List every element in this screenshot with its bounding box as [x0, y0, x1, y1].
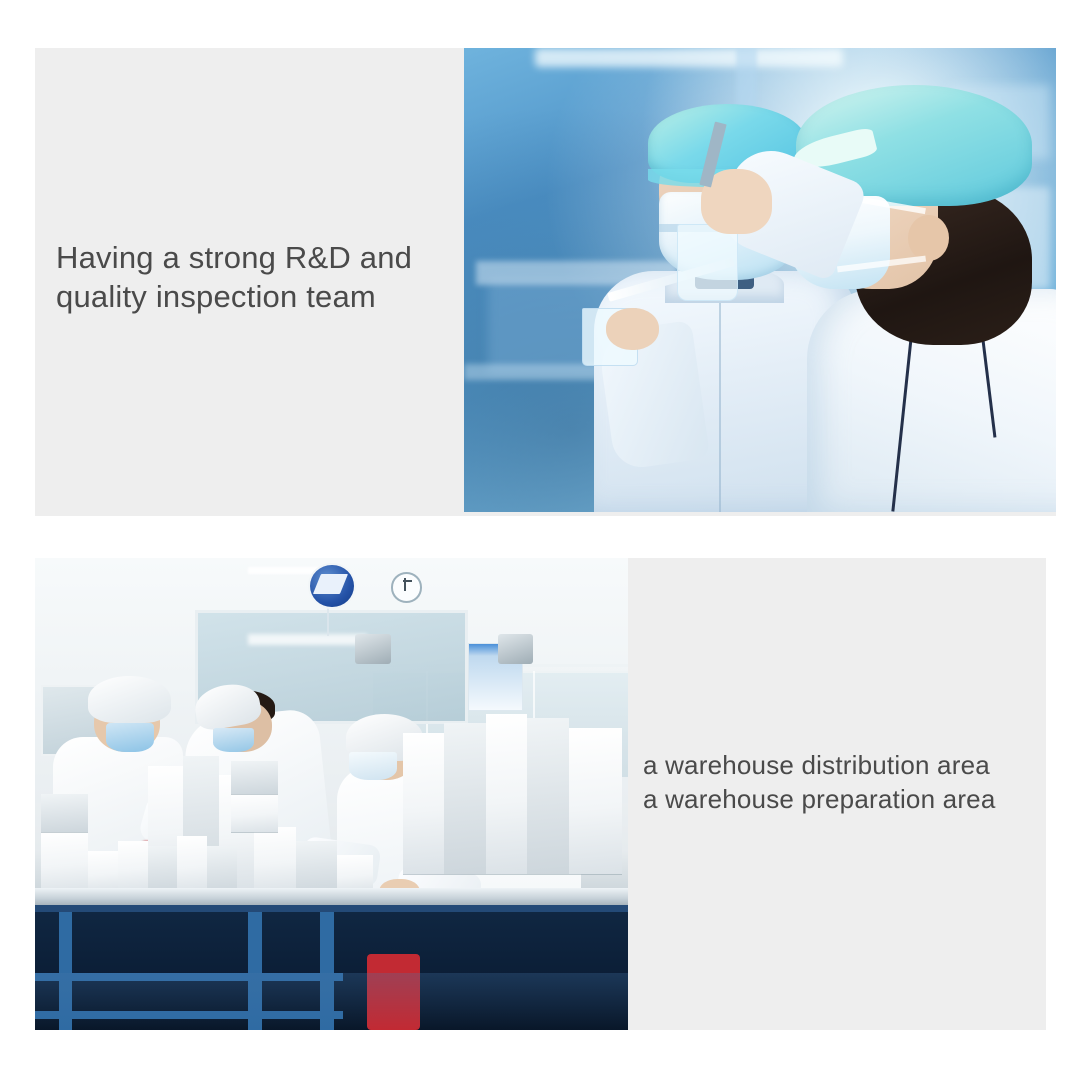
worker-3-face-mask: [349, 752, 396, 780]
carton-stack: [403, 733, 445, 875]
steel-pot-right: [498, 634, 534, 665]
worker-1-face-mask: [106, 723, 153, 751]
carton-box: [41, 794, 88, 832]
lab-inspection-photo: [464, 48, 1056, 512]
carton-stack: [527, 718, 569, 874]
carton-box: [177, 836, 207, 893]
top-caption-text: Having a strong R&D and quality inspecti…: [56, 238, 456, 316]
floor-reflection: [35, 973, 628, 1030]
lab-ceiling-light: [535, 48, 843, 67]
technician-left-hand: [606, 308, 659, 350]
carton-box: [41, 832, 88, 893]
carton-box: [254, 827, 296, 893]
worker-2-face-mask: [213, 728, 255, 752]
warehouse-window-reflection: [248, 634, 367, 646]
top-section: Having a strong R&D and quality inspecti…: [35, 48, 1056, 516]
worker-1-hairnet: [88, 676, 171, 723]
carton-box: [207, 846, 237, 893]
bottom-section: a warehouse distribution area a warehous…: [35, 558, 1046, 1030]
carton-box: [231, 761, 278, 794]
lab-flask: [677, 224, 738, 300]
carton-box: [88, 851, 118, 893]
wall-clock-icon: [391, 572, 422, 602]
technician-left-coat-seam: [719, 303, 721, 512]
carton-box: [148, 846, 178, 893]
carton-stack: [444, 723, 486, 874]
carton-stack: [486, 714, 528, 874]
steel-pot-left: [355, 634, 391, 665]
bottom-caption-text: a warehouse distribution area a warehous…: [643, 748, 1046, 816]
wall-clock-minute-hand: [404, 578, 406, 590]
carton-box: [296, 841, 338, 893]
carton-box: [231, 794, 278, 832]
carton-box: [118, 841, 148, 893]
carton-stack: [569, 728, 622, 874]
warehouse-packing-photo: [35, 558, 628, 1030]
